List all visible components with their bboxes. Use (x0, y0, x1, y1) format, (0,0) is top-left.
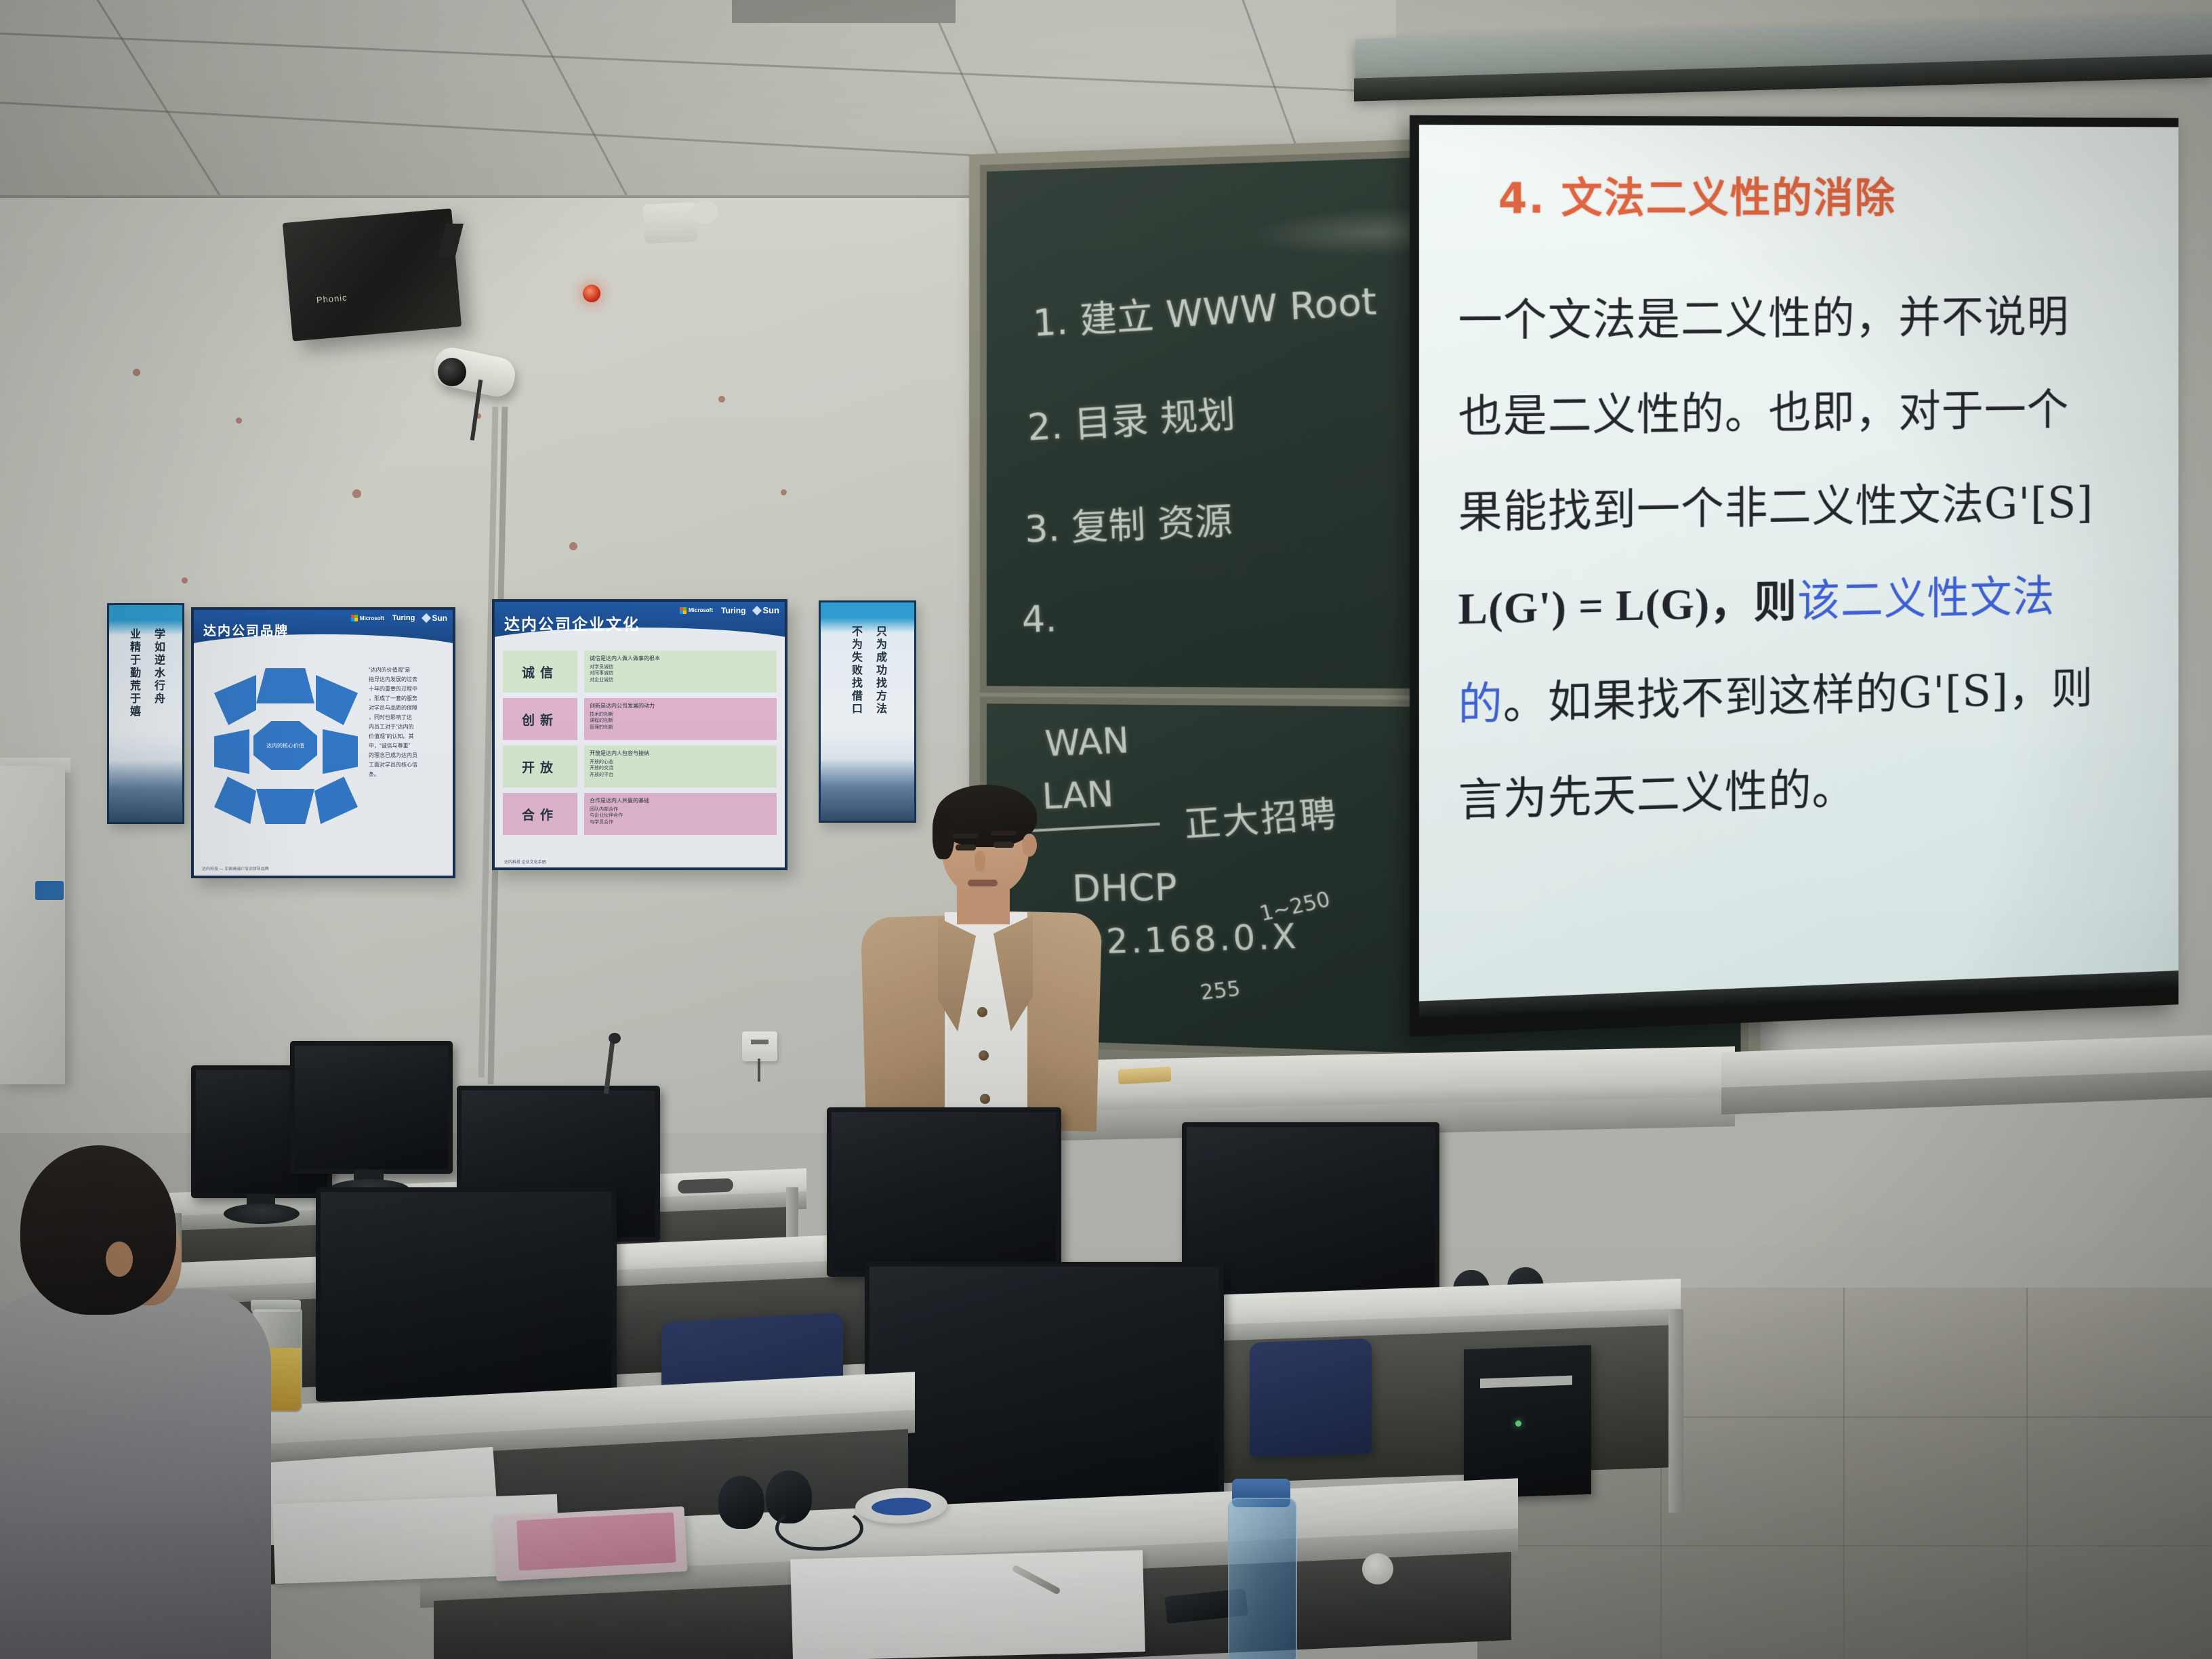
student-head (20, 1145, 176, 1315)
jacket-button (977, 1007, 987, 1017)
cabinet-label-tag (35, 881, 64, 900)
poster-company-brand: 达内公司品牌 Microsoft Turing Sun (191, 607, 455, 878)
wall-fixture-dome (691, 201, 718, 224)
instructor-nose (975, 851, 985, 872)
slide-body-line-5-highlight: 的 (1458, 678, 1503, 731)
instructor-mouth (968, 880, 998, 886)
student-torso (0, 1289, 271, 1659)
culture-row-key: 合作 (503, 793, 577, 835)
culture-row-value: 合作是达内人共赢的基础 团队内部合作 与企业伙伴合作 与学员合作 (584, 793, 777, 835)
poster-brand-title: 达内公司品牌 (203, 621, 289, 639)
slide-body-line-5-post: 。如果找不到这样的G'[S]，则 (1503, 663, 2093, 729)
lcd-monitor[interactable] (316, 1187, 617, 1401)
chalk-line-top-1: 1. 建立 WWW Root (1031, 270, 1377, 347)
small-cup[interactable] (1362, 1553, 1393, 1584)
slide-body-line-2: 也是二义性的。也即，对于一个 (1458, 384, 2070, 443)
jacket-button (980, 1094, 990, 1104)
projector-screen: 4. 文法二义性的消除 一个文法是二义性的，并不说明 也是二义性的。也即，对于一… (1410, 115, 2178, 1037)
culture-row-key: 开放 (503, 745, 577, 787)
pc-tower[interactable] (1464, 1345, 1591, 1499)
wall-banner-right: 只为成功找方法 不为失败找借口 (819, 600, 916, 823)
headphones[interactable] (718, 1471, 847, 1536)
brand-octagon-core: 达内的核心价值 (253, 721, 317, 770)
brand-octagon-diagram: 达内的核心价值 (213, 668, 359, 824)
headphone-cord (775, 1506, 863, 1551)
socket-slots-icon (751, 1040, 769, 1044)
camera-lens-icon (438, 358, 466, 386)
lcd-monitor[interactable] (290, 1041, 453, 1174)
classroom-photo: Phonic 学如逆水行舟 业精于勤荒于嬉 达内公司品牌 Microsoft (0, 0, 2212, 1659)
culture-row: 创新 创新是达内公司发展的动力 技术的创新 课程的创新 管理的创新 (503, 698, 777, 740)
wall-socket[interactable] (742, 1031, 777, 1061)
chalk-line-top-2: 2. 目录 规划 (1026, 384, 1237, 451)
paper-sheet[interactable] (790, 1550, 1145, 1659)
microsoft-logo-icon: Microsoft (351, 615, 384, 621)
desk-mouse[interactable] (678, 1179, 733, 1194)
lcd-monitor[interactable] (865, 1262, 1224, 1518)
student-figure (0, 1145, 271, 1659)
slide-body-line-1: 一个文法是二义性的，并不说明 (1458, 291, 2070, 347)
screen-bottom-bar (1419, 970, 2179, 1019)
brand-footnote: 达内科技 — 中国高端IT培训领导品牌 (202, 865, 269, 872)
turing-logo-icon: Turing (392, 614, 415, 622)
socket-cord (758, 1059, 760, 1082)
instructor-eyebrow-right (991, 831, 1017, 836)
slide-body-line-6: 言为先天二义性的。 (1458, 763, 1856, 827)
culture-row-key: 创新 (503, 698, 577, 740)
culture-row-value: 诚信是达内人做人做事的根本 对学员诚信 对同事诚信 对企业诚信 (584, 651, 777, 693)
chalk-line-bottom-255: 255 (1199, 977, 1242, 1005)
pc-power-led-icon (1515, 1420, 1521, 1427)
speaker-brand-label: Phonic (316, 288, 398, 303)
chalk-line-top-3: 3. 复制 资源 (1023, 490, 1233, 552)
instructor-eyebrow-left (953, 834, 979, 838)
poster-culture-title: 达内公司企业文化 (504, 611, 640, 634)
instructor-figure (862, 792, 1099, 1130)
storage-cabinet[interactable] (0, 766, 65, 1084)
instructor-eye-right (994, 842, 1014, 848)
pink-notebook[interactable] (493, 1507, 688, 1582)
wall-fixture-plate (643, 202, 698, 244)
culture-row-value: 创新是达内公司发展的动力 技术的创新 课程的创新 管理的创新 (584, 698, 777, 740)
classroom-chair[interactable] (1250, 1338, 1372, 1458)
jacket-button (979, 1050, 989, 1061)
chalk-line-top-4: 4. (1021, 597, 1058, 641)
monitor-screen (865, 1262, 1224, 1518)
headphone-cup (718, 1476, 764, 1529)
student-ear (106, 1242, 133, 1277)
poster-company-culture: 达内公司企业文化 Microsoft Turing Sun 诚信 诚信是达内人做… (492, 599, 787, 870)
wall-speaker: Phonic (283, 208, 462, 341)
ceiling-vent (732, 0, 956, 23)
banner-left-photo (109, 761, 182, 822)
sun-logo-icon: Sun (754, 605, 779, 615)
monitor-screen (316, 1187, 617, 1401)
slide-body-line-3: 果能找到一个非二义性文法G'[S] (1458, 477, 2094, 539)
projected-slide: 4. 文法二义性的消除 一个文法是二义性的，并不说明 也是二义性的。也即，对于一… (1419, 125, 2179, 1019)
chalkboard-eraser[interactable] (1118, 1067, 1172, 1084)
instructor-sideburn (933, 808, 954, 859)
sun-logo-icon: Sun (423, 613, 447, 623)
culture-row-value: 开放是达内人包容与接纳 开放的心态 开放的交流 开放的平台 (584, 745, 777, 787)
instructor-ear (1022, 834, 1037, 857)
instructor-eye-left (956, 844, 976, 851)
disc-logo-icon (872, 1496, 932, 1516)
wall-banner-left: 学如逆水行舟 业精于勤荒于嬉 (107, 603, 184, 824)
water-bottle[interactable] (1228, 1498, 1297, 1659)
microphone-head-icon (609, 1033, 621, 1044)
culture-row: 诚信 诚信是达内人做人做事的根本 对学员诚信 对同事诚信 对企业诚信 (503, 651, 777, 693)
indicator-light-icon (583, 285, 600, 302)
slide-body-line-4-pre: L(G') = L(G)，则 (1458, 578, 1798, 634)
culture-row-key: 诚信 (503, 651, 577, 693)
turing-logo-icon: Turing (721, 606, 745, 615)
chalk-line-bottom-recruit: 正大招聘 (1182, 785, 1340, 848)
culture-row: 开放 开放是达内人包容与接纳 开放的心态 开放的交流 开放的平台 (503, 745, 777, 787)
lcd-monitor[interactable] (827, 1107, 1061, 1277)
desk-row-right-cubby (1172, 1325, 1674, 1485)
brand-core-label: 达内的核心价值 (266, 742, 304, 750)
brand-body-text: “达内的价值观”是 指导达内发展的过去 十年的重要的过程中 ，形成了一套的服务 … (369, 667, 443, 781)
notebook-cover (516, 1513, 676, 1571)
desk-leg (1668, 1309, 1683, 1513)
chalk-line-bottom-wan: WAN (1044, 720, 1130, 765)
culture-row: 合作 合作是达内人共赢的基础 团队内部合作 与企业伙伴合作 与学员合作 (503, 793, 777, 835)
monitor-screen (290, 1041, 453, 1174)
culture-footnote: 达内科技 企业文化手册 (504, 859, 546, 865)
slide-title: 4. 文法二义性的消除 (1498, 164, 1896, 225)
monitor-screen (827, 1107, 1061, 1277)
slide-body-line-4-highlight: 该二义性文法 (1797, 571, 2055, 627)
microsoft-logo-icon: Microsoft (680, 607, 713, 614)
